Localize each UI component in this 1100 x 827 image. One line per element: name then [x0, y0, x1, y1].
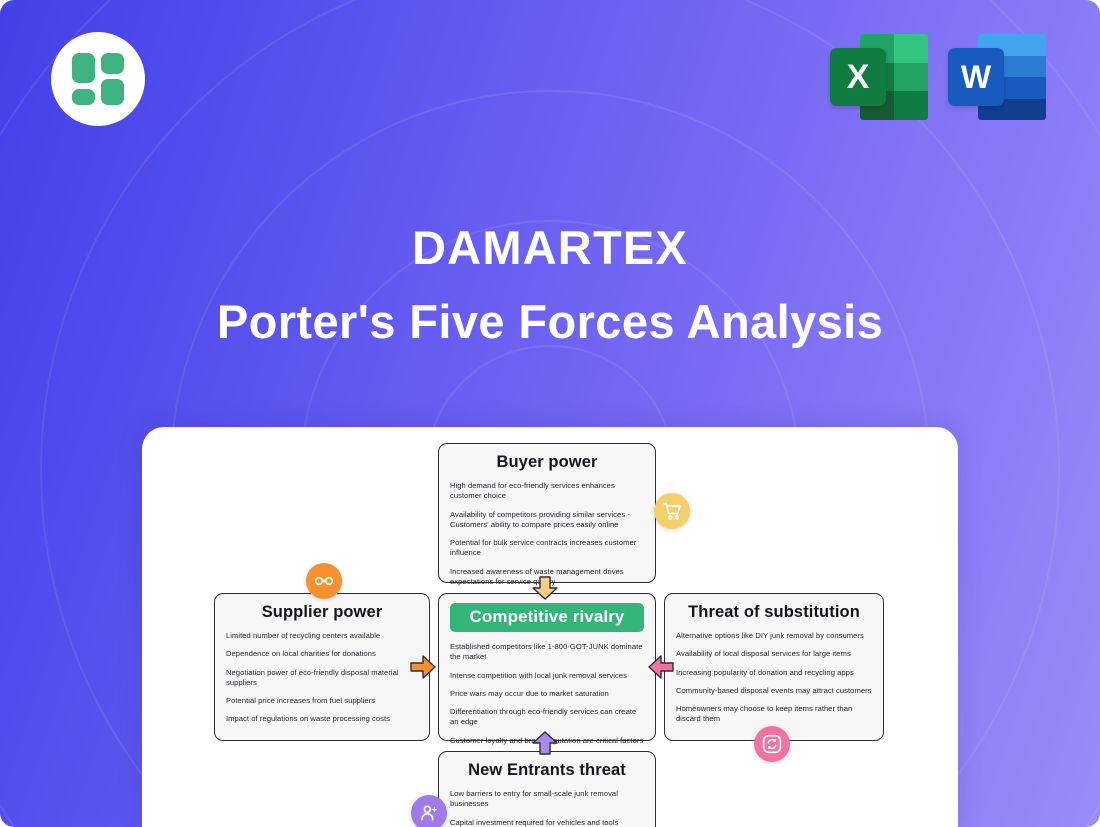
company-title: DAMARTEX: [0, 222, 1100, 274]
list-item: Impact of regulations on waste processin…: [226, 714, 418, 724]
list-item: Capital investment required for vehicles…: [450, 818, 644, 827]
link-connector-icon: [314, 571, 334, 591]
list-item: Low barriers to entry for small-scale ju…: [450, 789, 644, 810]
list-item: Potential price increases from fuel supp…: [226, 696, 418, 706]
list-item: Dependence on local charities for donati…: [226, 649, 418, 659]
force-items-buyer: High demand for eco-friendly services en…: [450, 481, 644, 587]
list-item: Alternative options like DIY junk remova…: [676, 631, 872, 641]
brand-logo: [51, 32, 145, 126]
force-box-supplier[interactable]: Supplier power Limited number of recycli…: [214, 593, 430, 741]
force-box-rivalry[interactable]: Competitive rivalry Established competit…: [438, 593, 656, 741]
arrow-left-substitution-icon: [648, 654, 674, 680]
force-box-substitution[interactable]: Threat of substitution Alternative optio…: [664, 593, 884, 741]
force-title-entrants: New Entrants threat: [450, 761, 644, 780]
slide-canvas: X W DAMARTEX Porter's Five Forces Analys…: [0, 0, 1100, 827]
word-icon[interactable]: W: [948, 28, 1046, 120]
refresh-sync-icon: [762, 734, 782, 754]
list-item: Availability of local disposal services …: [676, 649, 872, 659]
force-box-buyer[interactable]: Buyer power High demand for eco-friendly…: [438, 443, 656, 583]
grid-logo-icon: [72, 53, 124, 105]
badge-substitution-refresh[interactable]: [754, 726, 790, 762]
title-block: DAMARTEX Porter's Five Forces Analysis: [0, 222, 1100, 347]
diagram-card: Buyer power High demand for eco-friendly…: [142, 427, 958, 827]
arrow-up-entrants-icon: [531, 731, 559, 755]
force-title-supplier: Supplier power: [226, 603, 418, 622]
shopping-cart-icon: [662, 501, 682, 521]
badge-buyer-shopping-cart[interactable]: [654, 493, 690, 529]
five-forces-diagram: Buyer power High demand for eco-friendly…: [142, 427, 958, 827]
page-title: Porter's Five Forces Analysis: [0, 296, 1100, 348]
force-items-substitution: Alternative options like DIY junk remova…: [676, 631, 872, 725]
list-item: Increasing popularity of donation and re…: [676, 668, 872, 678]
badge-entrants-add-user[interactable]: [411, 795, 447, 827]
list-item: Limited number of recycling centers avai…: [226, 631, 418, 641]
list-item: Price wars may occur due to market satur…: [450, 689, 644, 699]
force-title-rivalry: Competitive rivalry: [450, 603, 644, 632]
list-item: Community-based disposal events may attr…: [676, 686, 872, 696]
list-item: Availability of competitors providing si…: [450, 510, 644, 531]
arrow-down-buyer-icon: [531, 576, 559, 600]
force-items-entrants: Low barriers to entry for small-scale ju…: [450, 789, 644, 827]
badge-supplier-link-connector[interactable]: [306, 563, 342, 599]
force-title-buyer: Buyer power: [450, 453, 644, 472]
excel-icon-letter: X: [830, 48, 886, 106]
list-item: Differentiation through eco-friendly ser…: [450, 707, 644, 728]
list-item: Potential for bulk service contracts inc…: [450, 538, 644, 559]
arrow-right-supplier-icon: [410, 654, 436, 680]
list-item: Established competitors like 1-800-GOT-J…: [450, 642, 644, 663]
list-item: Intense competition with local junk remo…: [450, 671, 644, 681]
force-box-entrants[interactable]: New Entrants threat Low barriers to entr…: [438, 751, 656, 827]
add-user-icon: [419, 803, 439, 823]
list-item: Homeowners may choose to keep items rath…: [676, 704, 872, 725]
list-item: High demand for eco-friendly services en…: [450, 481, 644, 502]
office-app-icons: X W: [830, 28, 1046, 120]
force-items-supplier: Limited number of recycling centers avai…: [226, 631, 418, 725]
force-title-substitution: Threat of substitution: [676, 603, 872, 622]
list-item: Negotiation power of eco-friendly dispos…: [226, 668, 418, 689]
word-icon-letter: W: [948, 48, 1004, 106]
excel-icon[interactable]: X: [830, 28, 928, 120]
